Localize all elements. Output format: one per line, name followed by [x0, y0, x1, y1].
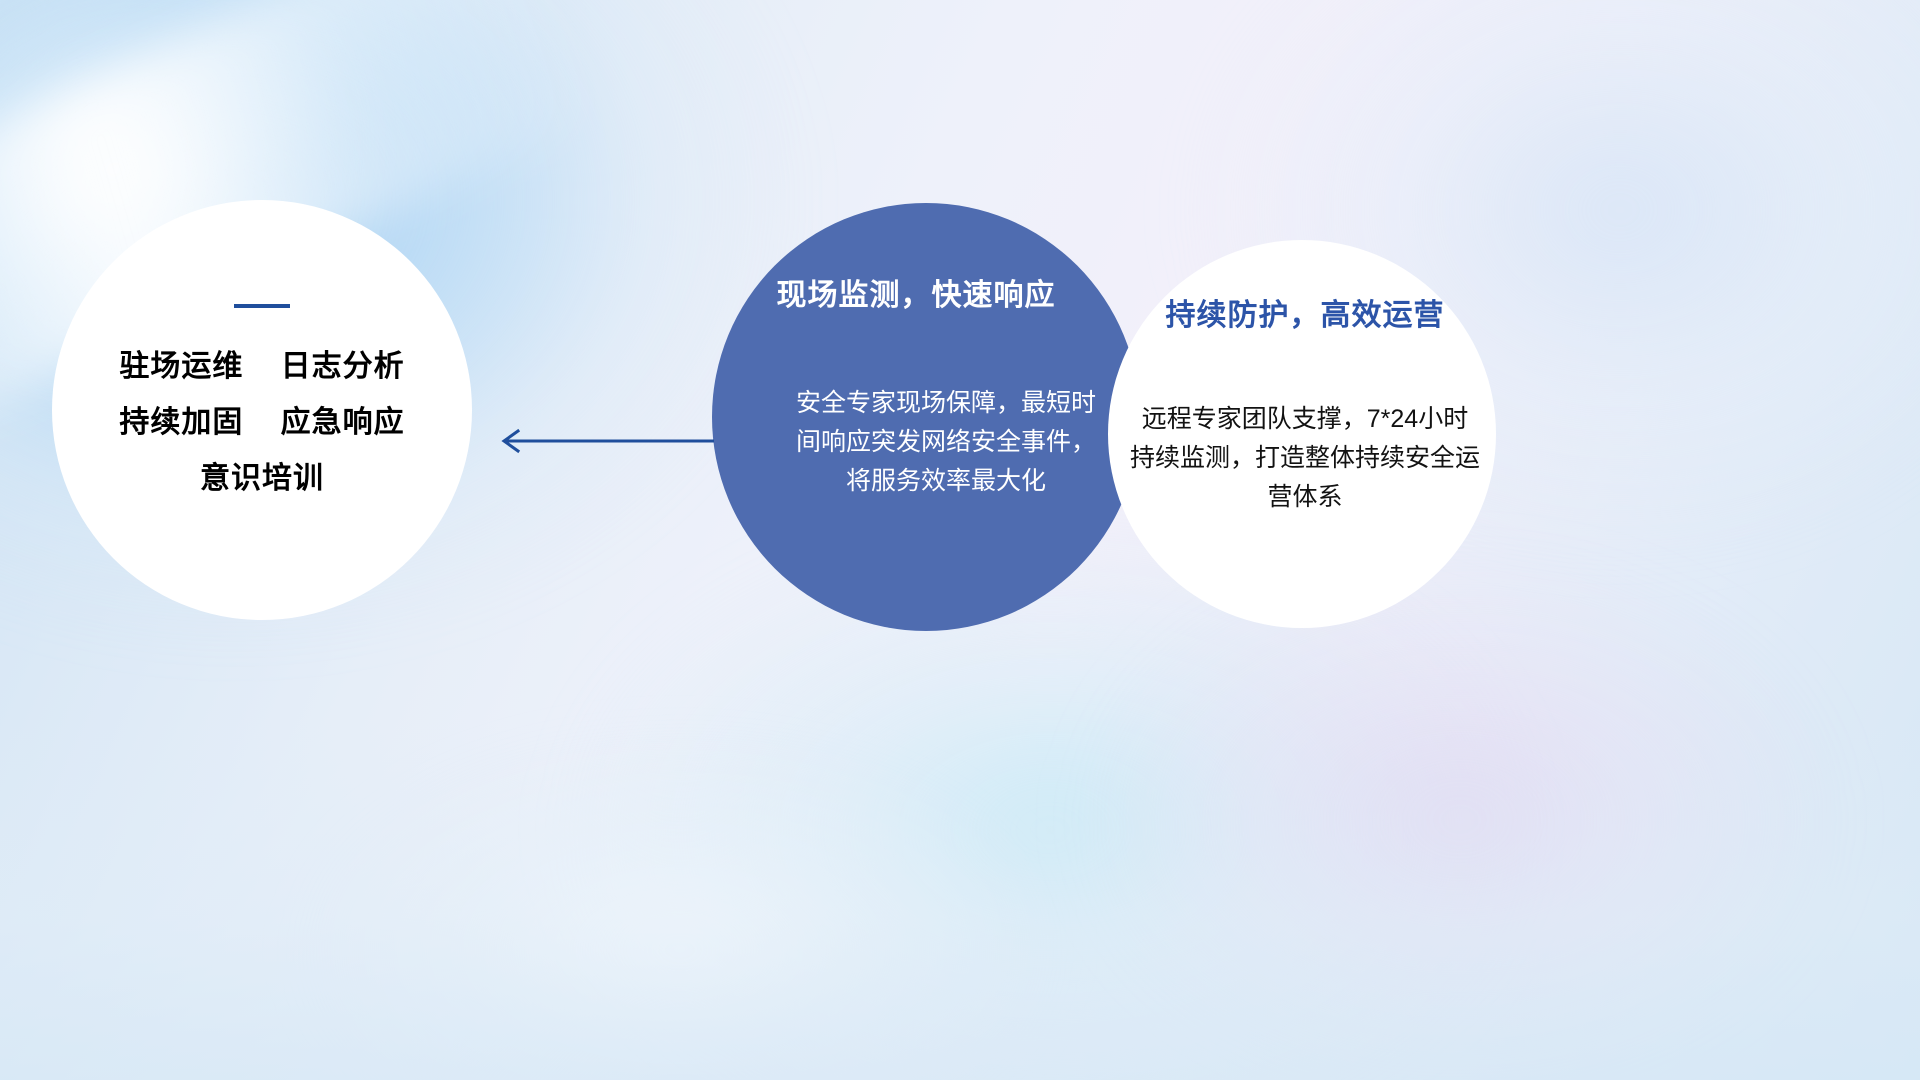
slide-canvas: 驻场运维 日志分析 持续加固 应急响应 意识培训 现场监测，快速响应 安全专家现… — [0, 0, 1920, 1080]
left-circle-line-1: 驻场运维 日志分析 — [119, 352, 404, 382]
flow-arrow — [492, 424, 716, 458]
middle-circle-body: 安全专家现场保障，最短时间响应突发网络安全事件，将服务效率最大化 — [796, 384, 1096, 501]
right-circle-content: 持续防护，高效运营 远程专家团队支撑，7*24小时持续监测，打造整体持续安全运营… — [1120, 290, 1490, 517]
divider-dash-icon — [234, 304, 290, 308]
middle-circle-content: 现场监测，快速响应 安全专家现场保障，最短时间响应突发网络安全事件，将服务效率最… — [726, 270, 1106, 501]
left-circle-content: 驻场运维 日志分析 持续加固 应急响应 意识培训 — [52, 200, 472, 620]
background-bottom-fade — [0, 720, 1920, 1080]
left-circle-line-3: 意识培训 — [200, 464, 324, 494]
right-circle-body: 远程专家团队支撑，7*24小时持续监测，打造整体持续安全运营体系 — [1130, 400, 1480, 517]
left-circle-line-2: 持续加固 应急响应 — [119, 408, 404, 438]
right-circle-title: 持续防护，高效运营 — [1120, 290, 1490, 334]
middle-circle-title: 现场监测，快速响应 — [726, 270, 1106, 314]
